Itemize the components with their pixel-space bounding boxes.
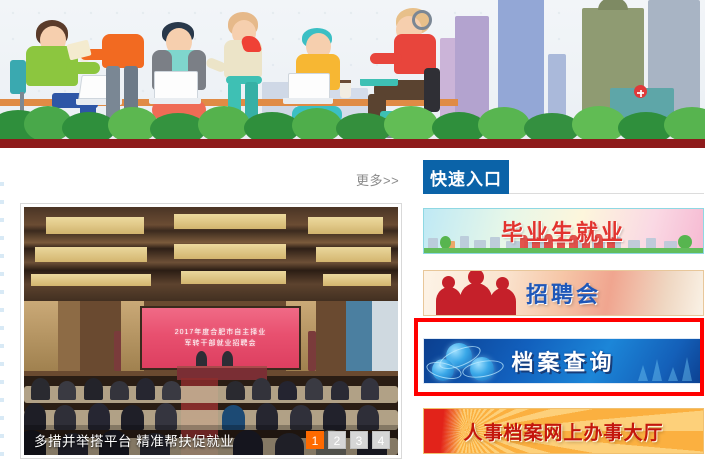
hero-banner: [0, 0, 705, 148]
banner-job-fair[interactable]: 招聘会: [423, 270, 704, 316]
hero-bottom-bar: [0, 139, 705, 148]
carousel-page-2[interactable]: 2: [328, 431, 346, 449]
led-line-2: 军转干部就业招聘会: [184, 338, 256, 349]
hero-coffee-cup: [340, 80, 351, 98]
led-line-1: 2017年度合肥市自主择业: [175, 327, 267, 338]
tab-quick-entry[interactable]: 快速入口: [423, 160, 509, 194]
carousel-pagination[interactable]: 1 2 3 4: [306, 431, 390, 449]
banner-graduate-employment[interactable]: 毕业生就业: [423, 208, 704, 254]
banner-archive-query[interactable]: 档案查询: [423, 338, 704, 384]
banner-label: 档案查询: [511, 345, 615, 377]
left-edge-ticks: [0, 182, 4, 462]
banner-label: 招聘会: [526, 277, 601, 309]
carousel-slide[interactable]: 2017年度合肥市自主择业 军转干部就业招聘会: [24, 207, 398, 455]
led-screen: 2017年度合肥市自主择业 军转干部就业招聘会: [140, 306, 301, 370]
carousel-caption: 多措并举搭平台 精准帮扶促就业: [34, 430, 234, 450]
banner-personnel-archive-hall[interactable]: 人事档案网上办事大厅: [423, 408, 704, 454]
carousel-page-1[interactable]: 1: [306, 431, 324, 449]
banner-label: 毕业生就业: [501, 215, 626, 247]
carousel-page-4[interactable]: 4: [372, 431, 390, 449]
carousel-page-3[interactable]: 3: [350, 431, 368, 449]
hero-hedge: [0, 104, 705, 140]
quick-entry-divider: [509, 193, 704, 194]
news-carousel[interactable]: 2017年度合肥市自主择业 军转干部就业招聘会: [20, 203, 402, 459]
more-link[interactable]: 更多>>: [356, 170, 399, 189]
banner-label: 人事档案网上办事大厅: [463, 418, 663, 445]
grass-strip: [424, 248, 703, 253]
